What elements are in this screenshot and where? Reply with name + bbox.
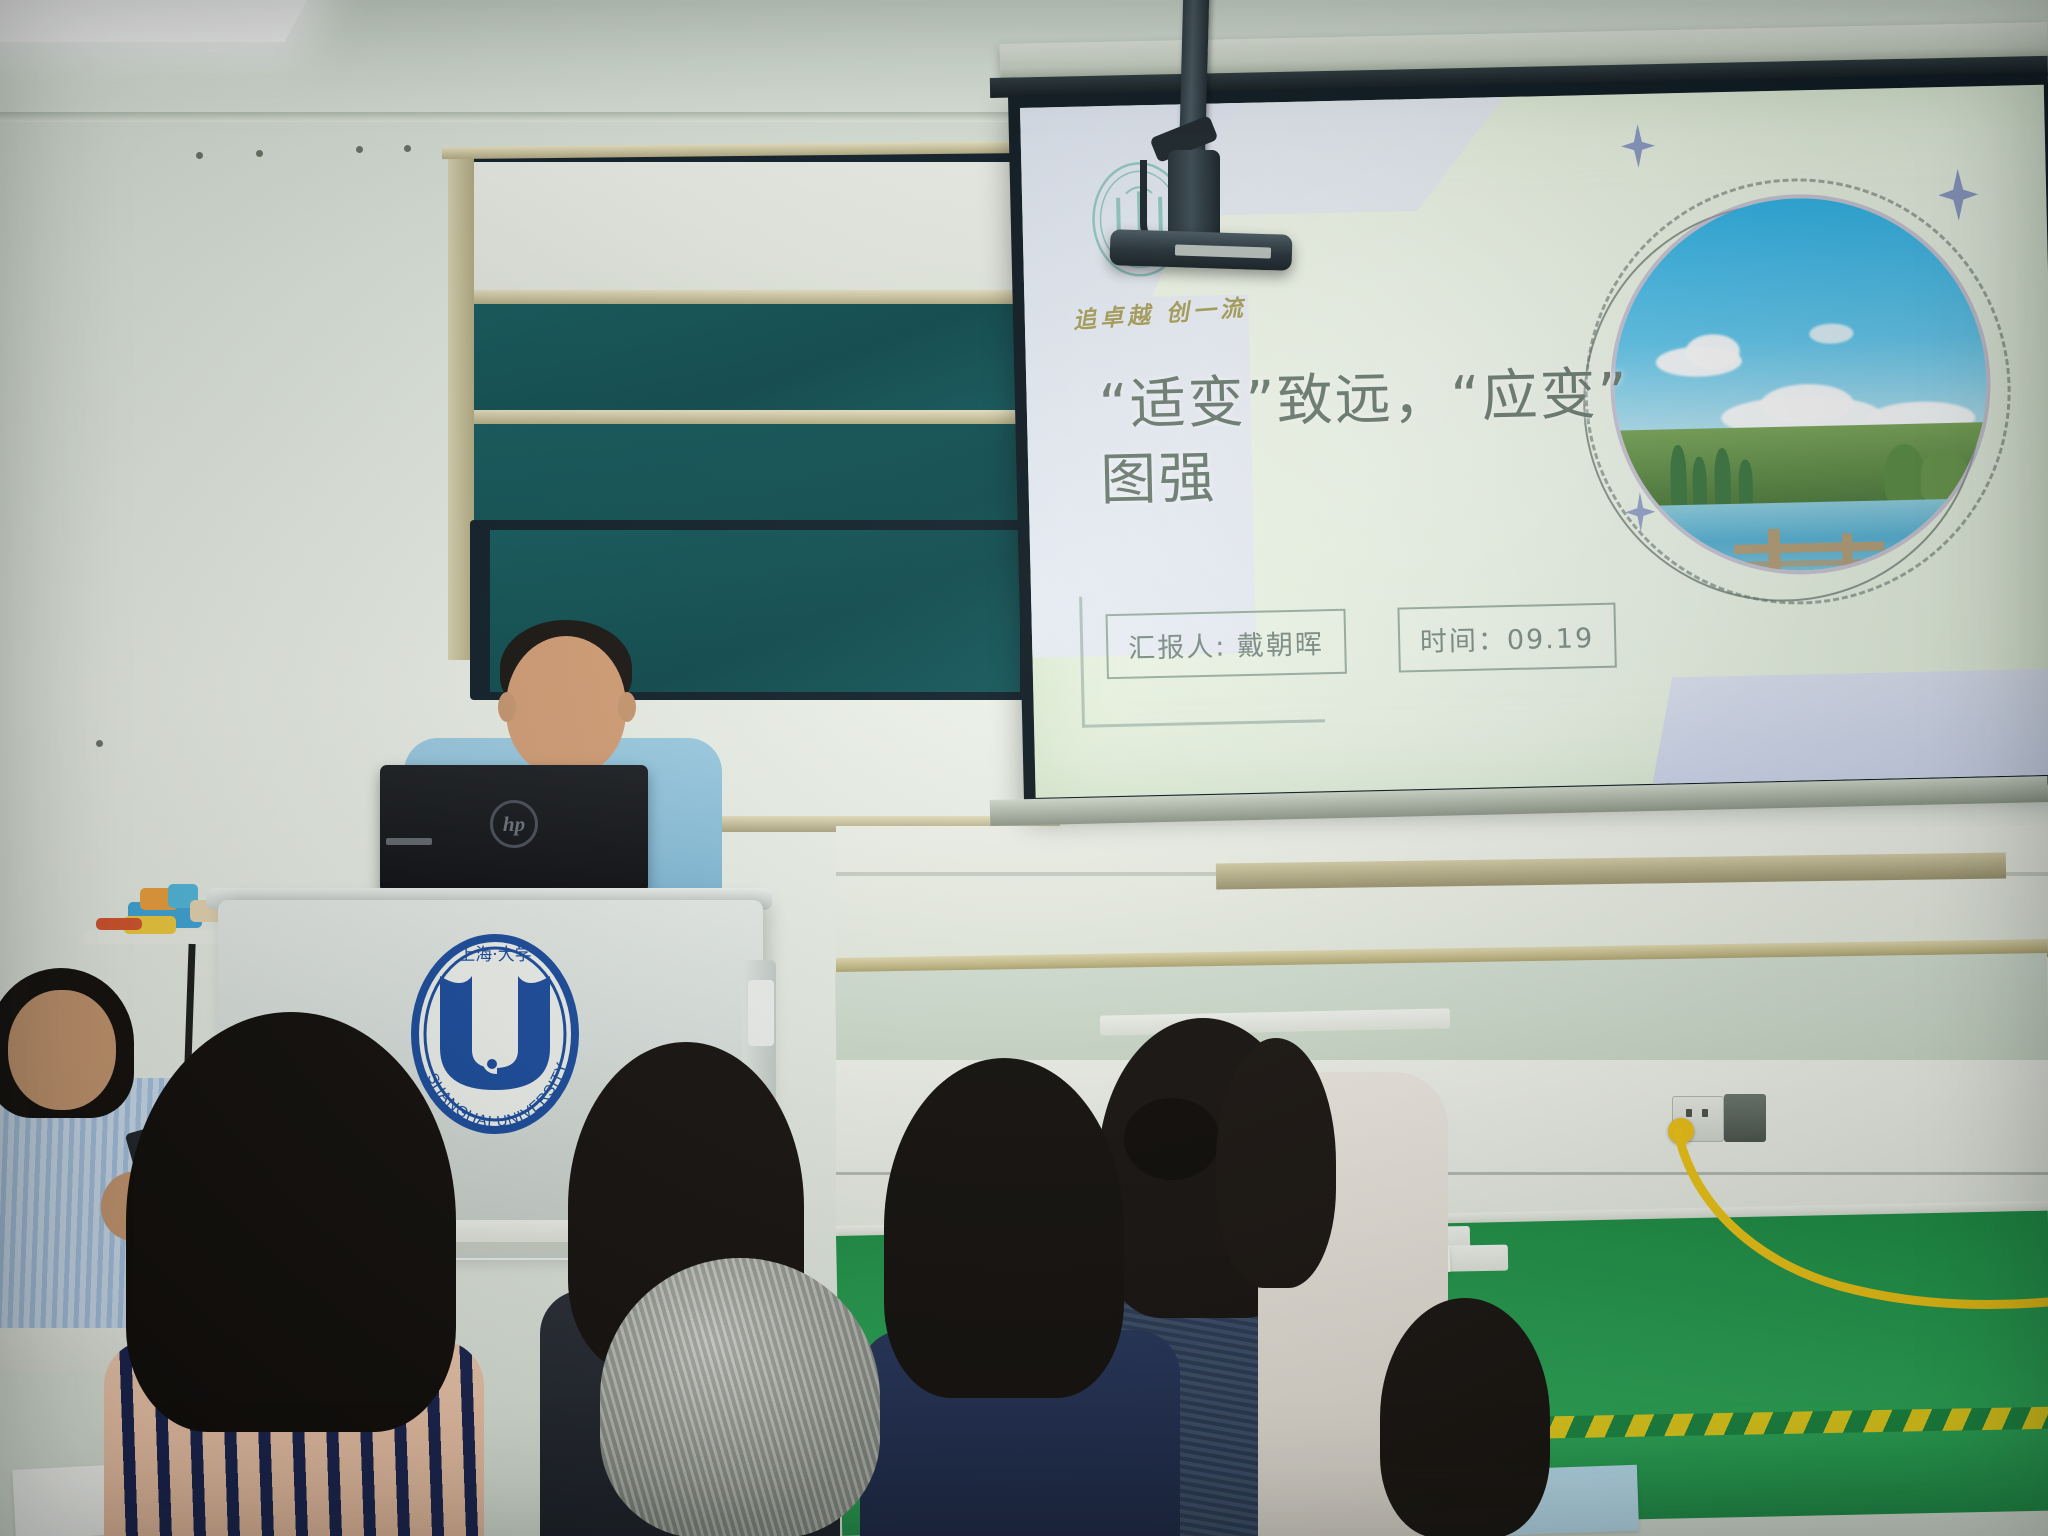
marker-pen xyxy=(96,918,142,930)
tree xyxy=(1884,444,1925,503)
audience-member-head xyxy=(8,990,116,1110)
ceiling-light-panel-secondary xyxy=(139,0,300,10)
wall-screw-dot xyxy=(356,146,363,153)
chalkboard-panel xyxy=(474,304,1022,412)
wall-screw-dot xyxy=(96,740,103,747)
sparkle-icon xyxy=(1938,168,1979,221)
podium-latch xyxy=(748,980,774,1046)
wall-screw-dot xyxy=(404,145,411,152)
presenter-ear xyxy=(618,692,636,722)
chalkboard-rail xyxy=(474,410,1022,424)
svg-text:上海·大学: 上海·大学 xyxy=(458,945,531,965)
chalkboard-white-panel xyxy=(474,162,1022,290)
slide-title-line-1: “适变”致远，“应变” xyxy=(1098,355,1700,444)
slide-title-line-2: 图强 xyxy=(1100,430,1702,519)
yellow-cable xyxy=(1600,1110,2048,1360)
audience-member-hair xyxy=(126,1012,456,1432)
slide-meta-row: 汇报人: 戴朝晖 时间：09.19 xyxy=(1106,603,1617,680)
tree xyxy=(1920,449,1969,502)
hp-logo-icon: hp xyxy=(490,800,538,848)
hair-bun xyxy=(1124,1098,1220,1180)
presenter-box: 汇报人: 戴朝晖 xyxy=(1106,609,1347,679)
audience-member-hair xyxy=(1380,1298,1550,1536)
audience-member-hair xyxy=(1216,1038,1336,1288)
date-box: 时间：09.19 xyxy=(1397,603,1617,673)
chalkboard-rail xyxy=(474,290,1022,304)
hair-texture xyxy=(600,1258,880,1536)
audience-member-hair xyxy=(884,1058,1124,1398)
wall-screw-dot xyxy=(256,150,263,157)
presenter-head xyxy=(506,636,626,776)
wall-screw-dot xyxy=(196,152,203,159)
sparkle-icon xyxy=(1621,124,1656,169)
monitor-highlight xyxy=(386,838,432,845)
presenter-ear xyxy=(498,692,516,722)
classroom-presentation-photo: 追卓越 创一流 xyxy=(0,0,2048,1536)
slide-title: “适变”致远，“应变” 图强 xyxy=(1098,355,1701,519)
audience-member-grey-hair xyxy=(600,1258,880,1536)
